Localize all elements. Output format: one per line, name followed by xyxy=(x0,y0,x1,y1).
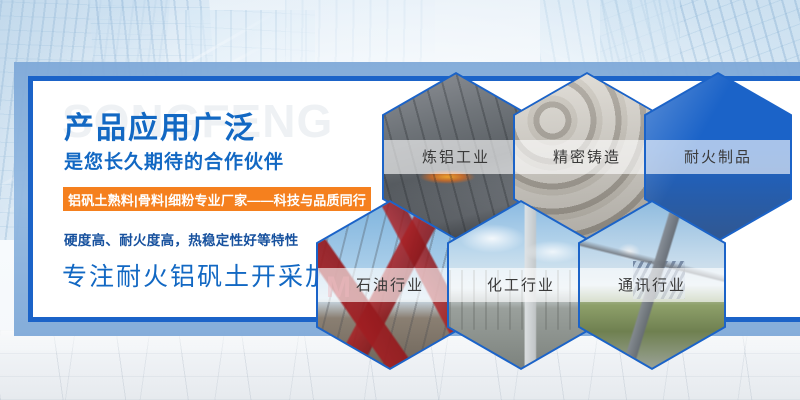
industry-label: 精密铸造 xyxy=(553,146,621,167)
industry-label: 炼铝工业 xyxy=(422,146,490,167)
promotional-banner: SONGFENG 产品应用广泛 是您长久期待的合作伙伴 铝矾土熟料|骨料|细粉专… xyxy=(0,0,800,400)
industry-label: 通讯行业 xyxy=(618,274,686,295)
hex-label-band: 精密铸造 xyxy=(515,140,659,174)
tagline-bar: 铝矾土熟料|骨料|细粉专业厂家——科技与品质同行 xyxy=(63,187,371,211)
focus-statement: 专注耐火铝矾土开采加工 xyxy=(62,257,359,293)
industry-label: 石油行业 xyxy=(356,274,424,295)
hex-label-band: 耐火制品 xyxy=(646,140,790,174)
hex-label-band: 石油行业 xyxy=(318,268,462,302)
hex-label-band: 炼铝工业 xyxy=(384,140,528,174)
industry-label: 化工行业 xyxy=(487,274,555,295)
hex-label-band: 通讯行业 xyxy=(580,268,724,302)
hex-label-band: 化工行业 xyxy=(449,268,593,302)
industry-label: 耐火制品 xyxy=(684,146,752,167)
subheadline: 是您长久期待的合作伙伴 xyxy=(64,147,284,174)
tagline-text: 铝矾土熟料|骨料|细粉专业厂家——科技与品质同行 xyxy=(68,190,366,209)
page-title: 产品应用广泛 xyxy=(64,103,256,147)
feature-description: 硬度高、耐火度高，热稳定性好等特性 xyxy=(64,229,299,249)
